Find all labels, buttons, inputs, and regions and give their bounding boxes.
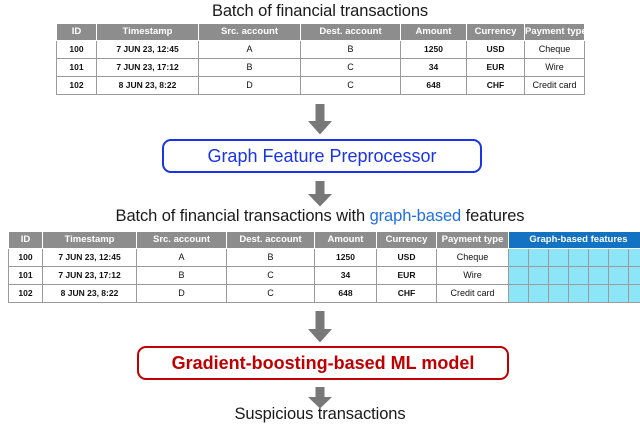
cell-graph-feature [609,267,629,285]
cell-timestamp: 8 JUN 23, 8:22 [43,285,137,303]
column-header-src-account: Src. account [199,24,301,41]
down-arrow-icon [307,311,333,343]
caption-highlight: graph-based [370,207,462,225]
cell-graph-feature [589,249,609,267]
cell-graph-feature [549,267,569,285]
cell-timestamp: 7 JUN 23, 12:45 [97,41,199,59]
cell-graph-feature [529,249,549,267]
column-header-timestamp: Timestamp [97,24,199,41]
cell-src-account: D [199,77,301,95]
cell-src-account: A [137,249,227,267]
cell-graph-feature [629,249,640,267]
column-header-currency: Currency [377,232,437,249]
column-header-id: ID [9,232,43,249]
table-row: 101 7 JUN 23, 17:12 B C 34 EUR Wire [57,59,585,77]
table-row: 102 8 JUN 23, 8:22 D C 648 CHF Credit ca… [57,77,585,95]
column-header-payment-type: Payment type [525,24,585,41]
cell-currency: CHF [377,285,437,303]
down-arrow-icon [307,104,333,135]
cell-amount: 1250 [401,41,467,59]
page-title-enriched: Batch of financial transactions with gra… [0,207,640,226]
cell-payment-type: Cheque [437,249,509,267]
cell-currency: CHF [467,77,525,95]
caption-text: Batch of financial transactions [212,2,428,20]
column-header-id: ID [57,24,97,41]
cell-timestamp: 7 JUN 23, 17:12 [43,267,137,285]
cell-amount: 34 [401,59,467,77]
cell-timestamp: 7 JUN 23, 12:45 [43,249,137,267]
cell-graph-feature [549,249,569,267]
column-header-amount: Amount [315,232,377,249]
cell-src-account: D [137,285,227,303]
column-header-src-account: Src. account [137,232,227,249]
cell-dest-account: C [227,285,315,303]
cell-graph-feature [589,267,609,285]
table-row: 102 8 JUN 23, 8:22 D C 648 CHF Credit ca… [9,285,640,303]
cell-graph-feature [569,267,589,285]
cell-id: 102 [9,285,43,303]
cell-timestamp: 7 JUN 23, 17:12 [97,59,199,77]
cell-graph-feature [609,249,629,267]
ml-model-label: Gradient-boosting-based ML model [172,353,475,374]
column-header-graph-based-features: Graph-based features [509,232,640,249]
cell-id: 102 [57,77,97,95]
cell-src-account: A [199,41,301,59]
cell-payment-type: Wire [525,59,585,77]
caption-suffix: features [461,207,524,225]
cell-timestamp: 8 JUN 23, 8:22 [97,77,199,95]
cell-id: 100 [9,249,43,267]
cell-id: 100 [57,41,97,59]
preprocessor-label: Graph Feature Preprocessor [207,146,436,167]
caption-text: Suspicious transactions [234,405,405,423]
cell-dest-account: B [301,41,401,59]
cell-payment-type: Cheque [525,41,585,59]
cell-src-account: B [137,267,227,285]
cell-dest-account: C [301,77,401,95]
cell-id: 101 [57,59,97,77]
cell-amount: 648 [401,77,467,95]
column-header-dest-account: Dest. account [227,232,315,249]
cell-graph-feature [569,285,589,303]
cell-graph-feature [509,249,529,267]
cell-payment-type: Credit card [437,285,509,303]
down-arrow-icon [307,181,333,207]
ml-model-box[interactable]: Gradient-boosting-based ML model [137,346,509,380]
table-header-row: ID Timestamp Src. account Dest. account … [57,24,585,41]
cell-src-account: B [199,59,301,77]
table-row: 101 7 JUN 23, 17:12 B C 34 EUR Wire [9,267,640,285]
column-header-currency: Currency [467,24,525,41]
cell-graph-feature [529,285,549,303]
cell-dest-account: C [227,267,315,285]
column-header-amount: Amount [401,24,467,41]
enriched-transactions-table: ID Timestamp Src. account Dest. account … [8,231,640,303]
cell-amount: 34 [315,267,377,285]
cell-currency: USD [467,41,525,59]
graph-feature-preprocessor-box[interactable]: Graph Feature Preprocessor [162,139,482,173]
page-title-batch: Batch of financial transactions [0,2,640,21]
page-title-suspicious: Suspicious transactions [0,405,640,424]
table-row: 100 7 JUN 23, 12:45 A B 1250 USD Cheque [9,249,640,267]
caption-prefix: Batch of financial transactions with [116,207,370,225]
cell-graph-feature [529,267,549,285]
cell-payment-type: Wire [437,267,509,285]
cell-graph-feature [589,285,609,303]
table-header-row: ID Timestamp Src. account Dest. account … [9,232,640,249]
cell-graph-feature [509,267,529,285]
cell-dest-account: B [227,249,315,267]
cell-graph-feature [629,267,640,285]
column-header-timestamp: Timestamp [43,232,137,249]
column-header-payment-type: Payment type [437,232,509,249]
cell-currency: EUR [377,267,437,285]
cell-dest-account: C [301,59,401,77]
cell-payment-type: Credit card [525,77,585,95]
cell-graph-feature [629,285,640,303]
transactions-table: ID Timestamp Src. account Dest. account … [56,23,585,95]
cell-graph-feature [569,249,589,267]
cell-amount: 648 [315,285,377,303]
cell-graph-feature [609,285,629,303]
cell-graph-feature [549,285,569,303]
cell-amount: 1250 [315,249,377,267]
cell-currency: USD [377,249,437,267]
table-row: 100 7 JUN 23, 12:45 A B 1250 USD Cheque [57,41,585,59]
cell-currency: EUR [467,59,525,77]
cell-graph-feature [509,285,529,303]
column-header-dest-account: Dest. account [301,24,401,41]
cell-id: 101 [9,267,43,285]
